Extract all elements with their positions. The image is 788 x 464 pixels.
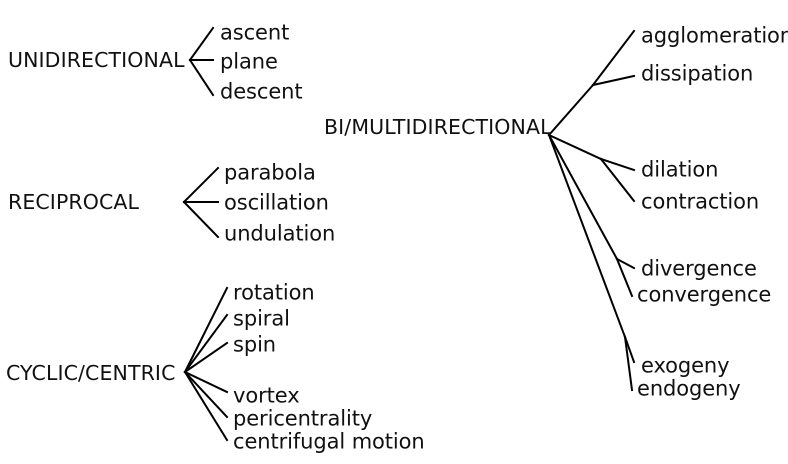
leaf-label-cyclic-centric-2: spin xyxy=(233,335,276,356)
edge-dilation-contraction-0 xyxy=(601,159,634,170)
category-label-cyclic-centric: CYCLIC/CENTRIC xyxy=(6,363,175,384)
edge-unidirectional-2 xyxy=(190,60,213,95)
edge-cyclic-centric-0 xyxy=(185,288,227,372)
edge-unidirectional-0 xyxy=(190,28,213,60)
leaf-label-cyclic-centric-3: vortex xyxy=(233,386,300,407)
edge-dilation-contraction-1 xyxy=(601,159,634,201)
category-label-reciprocal: RECIPROCAL xyxy=(8,192,139,213)
leaf-label-reciprocal-0: parabola xyxy=(224,163,316,184)
leaf-label-unidirectional-0: ascent xyxy=(220,23,289,44)
leaf-label-cyclic-centric-1: spiral xyxy=(233,309,290,330)
edge-bi-multidirectional-group-divergence-convergence xyxy=(549,135,617,259)
edge-divergence-convergence-0 xyxy=(617,259,634,268)
leaf-label-exogeny-endogeny-0: exogeny xyxy=(641,356,729,377)
leaf-label-unidirectional-1: plane xyxy=(220,52,278,73)
leaf-label-divergence-convergence-1: convergence xyxy=(637,285,771,306)
leaf-label-cyclic-centric-5: centrifugal motion xyxy=(233,432,425,453)
edge-cyclic-centric-4 xyxy=(185,372,227,417)
edge-cyclic-centric-2 xyxy=(185,343,227,372)
edge-cyclic-centric-1 xyxy=(185,315,227,372)
category-label-bi-multidirectional: BI/MULTIDIRECTIONAL xyxy=(324,117,552,138)
leaf-label-reciprocal-1: oscillation xyxy=(224,193,329,214)
leaf-label-unidirectional-2: descent xyxy=(220,82,303,103)
leaf-label-agglomeration-dissipation-1: dissipation xyxy=(641,64,753,85)
leaf-label-dilation-contraction-1: contraction xyxy=(641,192,759,213)
edge-bi-multidirectional-group-dilation-contraction xyxy=(549,135,601,159)
edge-reciprocal-2 xyxy=(184,202,218,237)
edge-agglomeration-dissipation-0 xyxy=(593,31,634,85)
edge-cyclic-centric-5 xyxy=(185,372,227,440)
leaf-label-cyclic-centric-0: rotation xyxy=(233,283,315,304)
edge-exogeny-endogeny-1 xyxy=(625,337,632,390)
edge-exogeny-endogeny-0 xyxy=(625,337,634,362)
edge-reciprocal-0 xyxy=(184,168,218,202)
edge-cyclic-centric-3 xyxy=(185,372,227,392)
category-label-unidirectional: UNIDIRECTIONAL xyxy=(8,50,185,71)
motion-taxonomy-diagram: UNIDIRECTIONALascentplanedescentRECIPROC… xyxy=(0,0,788,464)
edge-bi-multidirectional-group-agglomeration-dissipation xyxy=(549,85,593,135)
edge-divergence-convergence-1 xyxy=(617,259,632,296)
edge-bi-multidirectional-group-exogeny-endogeny xyxy=(549,135,625,337)
leaf-label-dilation-contraction-0: dilation xyxy=(641,160,718,181)
leaf-label-agglomeration-dissipation-0: agglomeration xyxy=(641,26,788,47)
leaf-label-cyclic-centric-4: pericentrality xyxy=(233,409,372,430)
edge-agglomeration-dissipation-1 xyxy=(593,76,634,85)
leaf-label-reciprocal-2: undulation xyxy=(224,224,335,245)
leaf-label-divergence-convergence-0: divergence xyxy=(641,259,757,280)
leaf-label-exogeny-endogeny-1: endogeny xyxy=(637,379,741,400)
